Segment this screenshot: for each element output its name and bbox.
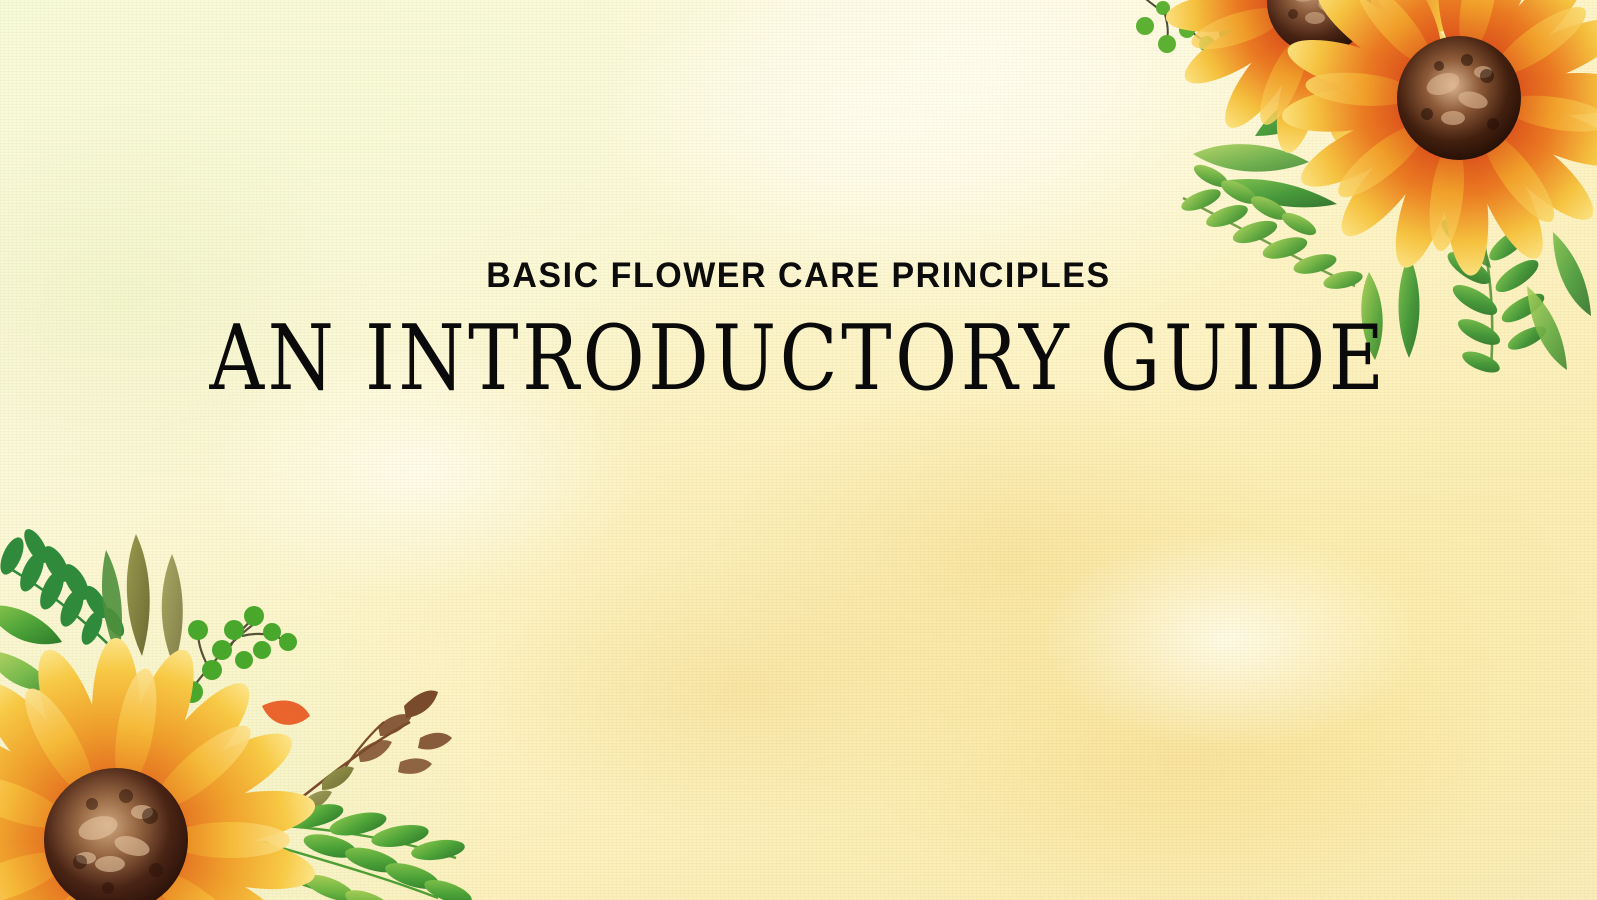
berry-sprig-top-right [1137,0,1207,42]
petals-sunflower-main [1280,0,1597,277]
petals-sunflower-top [1164,0,1474,157]
flower-center-top [1267,0,1371,54]
flower-center-main [1397,36,1521,160]
paper-texture [0,0,1597,900]
sunflower-cluster-bottom-left [0,510,526,900]
title-block: BASIC FLOWER CARE PRINCIPLES AN INTRODUC… [0,258,1597,402]
petals-sunflower-bottom-left [0,638,319,900]
fern-frond-bottom-left [0,526,183,691]
flower-center-bottom-left [44,768,188,900]
sunflower-top [1164,0,1474,157]
sunflower-main [1280,0,1597,277]
page-title: AN INTRODUCTORY GUIDE [96,314,1501,403]
sunflower-bottom-left [0,638,319,900]
berries-top-right [1136,1,1233,53]
leaf-sprays-bottom-left [132,800,475,900]
orange-bud [262,701,310,725]
eyebrow-subtitle: BASIC FLOWER CARE PRINCIPLES [24,258,1573,293]
berry-sprig-bottom-left [167,606,297,703]
background-washes [0,0,1597,900]
brown-branch-bottom-left [286,691,452,812]
poster-canvas: BASIC FLOWER CARE PRINCIPLES AN INTRODUC… [0,0,1597,900]
page-title-text: AN INTRODUCTORY GUIDE [209,314,1387,403]
